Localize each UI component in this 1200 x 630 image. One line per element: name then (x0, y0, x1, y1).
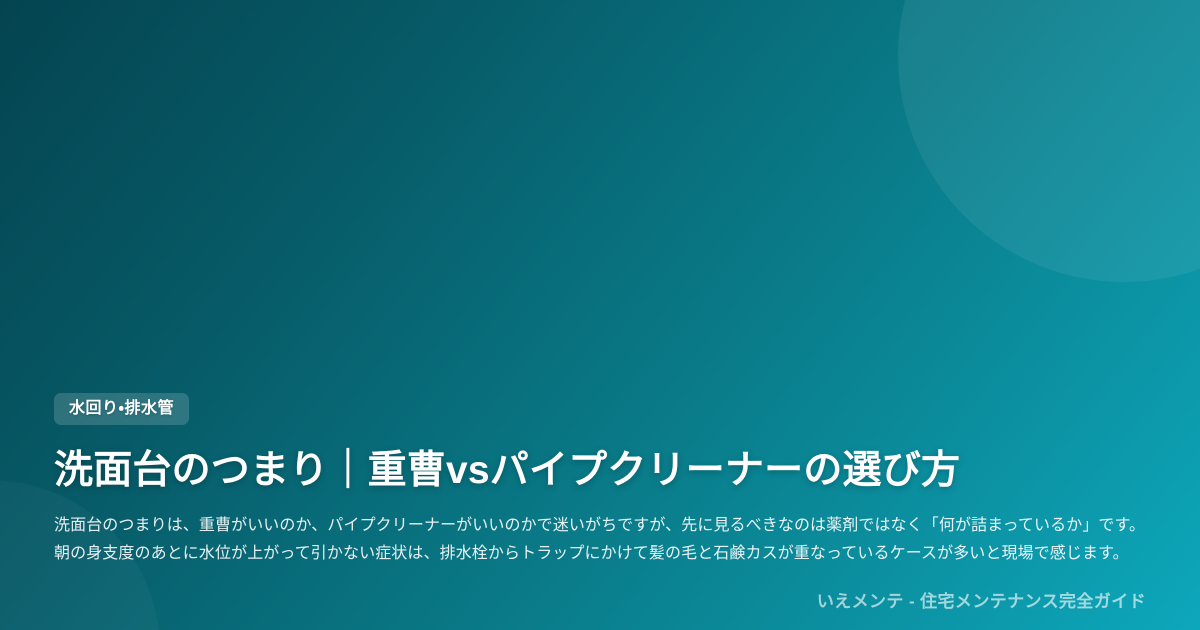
og-card: 水回り・排水管 洗面台のつまり｜重曹vsパイプクリーナーの選び方 洗面台のつまり… (0, 0, 1200, 630)
page-title: 洗面台のつまり｜重曹vsパイプクリーナーの選び方 (54, 447, 960, 495)
card-content: 水回り・排水管 洗面台のつまり｜重曹vsパイプクリーナーの選び方 洗面台のつまり… (54, 393, 1146, 568)
page-description: 洗面台のつまりは、重曹がいいのか、パイプクリーナーがいいのかで迷いがちですが、先… (54, 512, 1146, 568)
decorative-circle-top-right (898, 0, 1200, 282)
site-name: いえメンテ - 住宅メンテナンス完全ガイド (817, 587, 1146, 612)
category-badge: 水回り・排水管 (54, 393, 189, 426)
